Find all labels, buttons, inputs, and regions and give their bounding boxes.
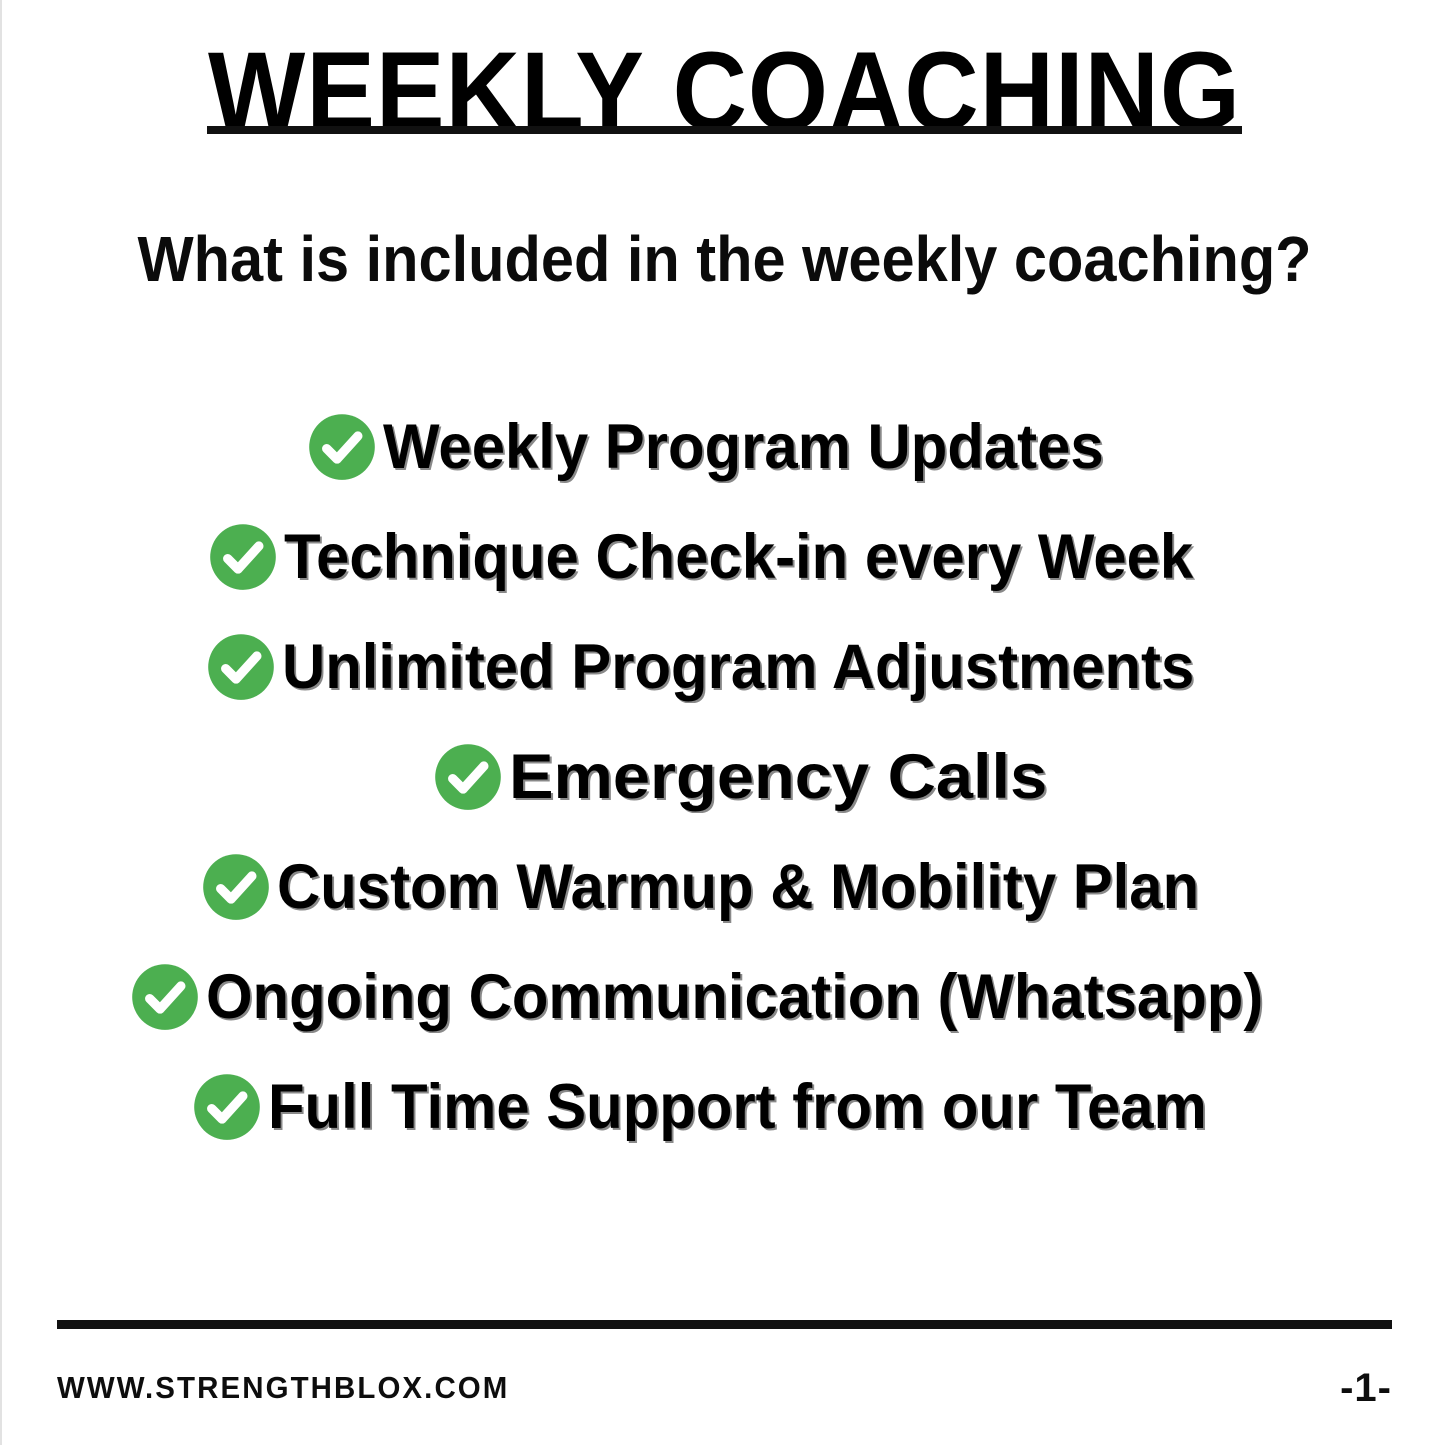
list-item-label: Custom Warmup & Mobility Plan (277, 852, 1199, 922)
list-item-label: Unlimited Program Adjustments (282, 632, 1194, 702)
list-item-label: Weekly Program Updates (383, 412, 1104, 482)
footer: WWW.STRENGTHBLOX.COM -1- (57, 1358, 1392, 1418)
footer-divider (57, 1320, 1392, 1329)
feature-list: Weekly Program Updates Technique Check-i… (2, 392, 1445, 1162)
list-item-label: Emergency Calls (509, 742, 1047, 812)
list-item-label: Full Time Support from our Team (268, 1072, 1207, 1142)
list-item: Emergency Calls (433, 722, 1017, 832)
list-item: Technique Check-in every Week (208, 502, 1241, 612)
list-item: Weekly Program Updates (307, 392, 1142, 502)
check-circle-icon (130, 962, 200, 1032)
title-divider (207, 126, 1242, 134)
footer-website-url[interactable]: WWW.STRENGTHBLOX.COM (57, 1370, 509, 1406)
check-circle-icon (206, 632, 276, 702)
check-circle-icon (208, 522, 278, 592)
check-circle-icon (433, 742, 503, 812)
list-item: Custom Warmup & Mobility Plan (201, 832, 1248, 942)
check-circle-icon (192, 1072, 262, 1142)
list-item: Full Time Support from our Team (192, 1052, 1256, 1162)
list-item-label: Ongoing Communication (Whatsapp) (206, 962, 1263, 1032)
check-circle-icon (307, 412, 377, 482)
list-item: Ongoing Communication (Whatsapp) (130, 942, 1319, 1052)
page-canvas: WEEKLY COACHING What is included in the … (0, 0, 1445, 1445)
check-circle-icon (201, 852, 271, 922)
page-number: -1- (1340, 1366, 1392, 1411)
list-item: Unlimited Program Adjustments (206, 612, 1242, 722)
subtitle: What is included in the weekly coaching? (53, 222, 1397, 296)
list-item-label: Technique Check-in every Week (284, 522, 1193, 592)
